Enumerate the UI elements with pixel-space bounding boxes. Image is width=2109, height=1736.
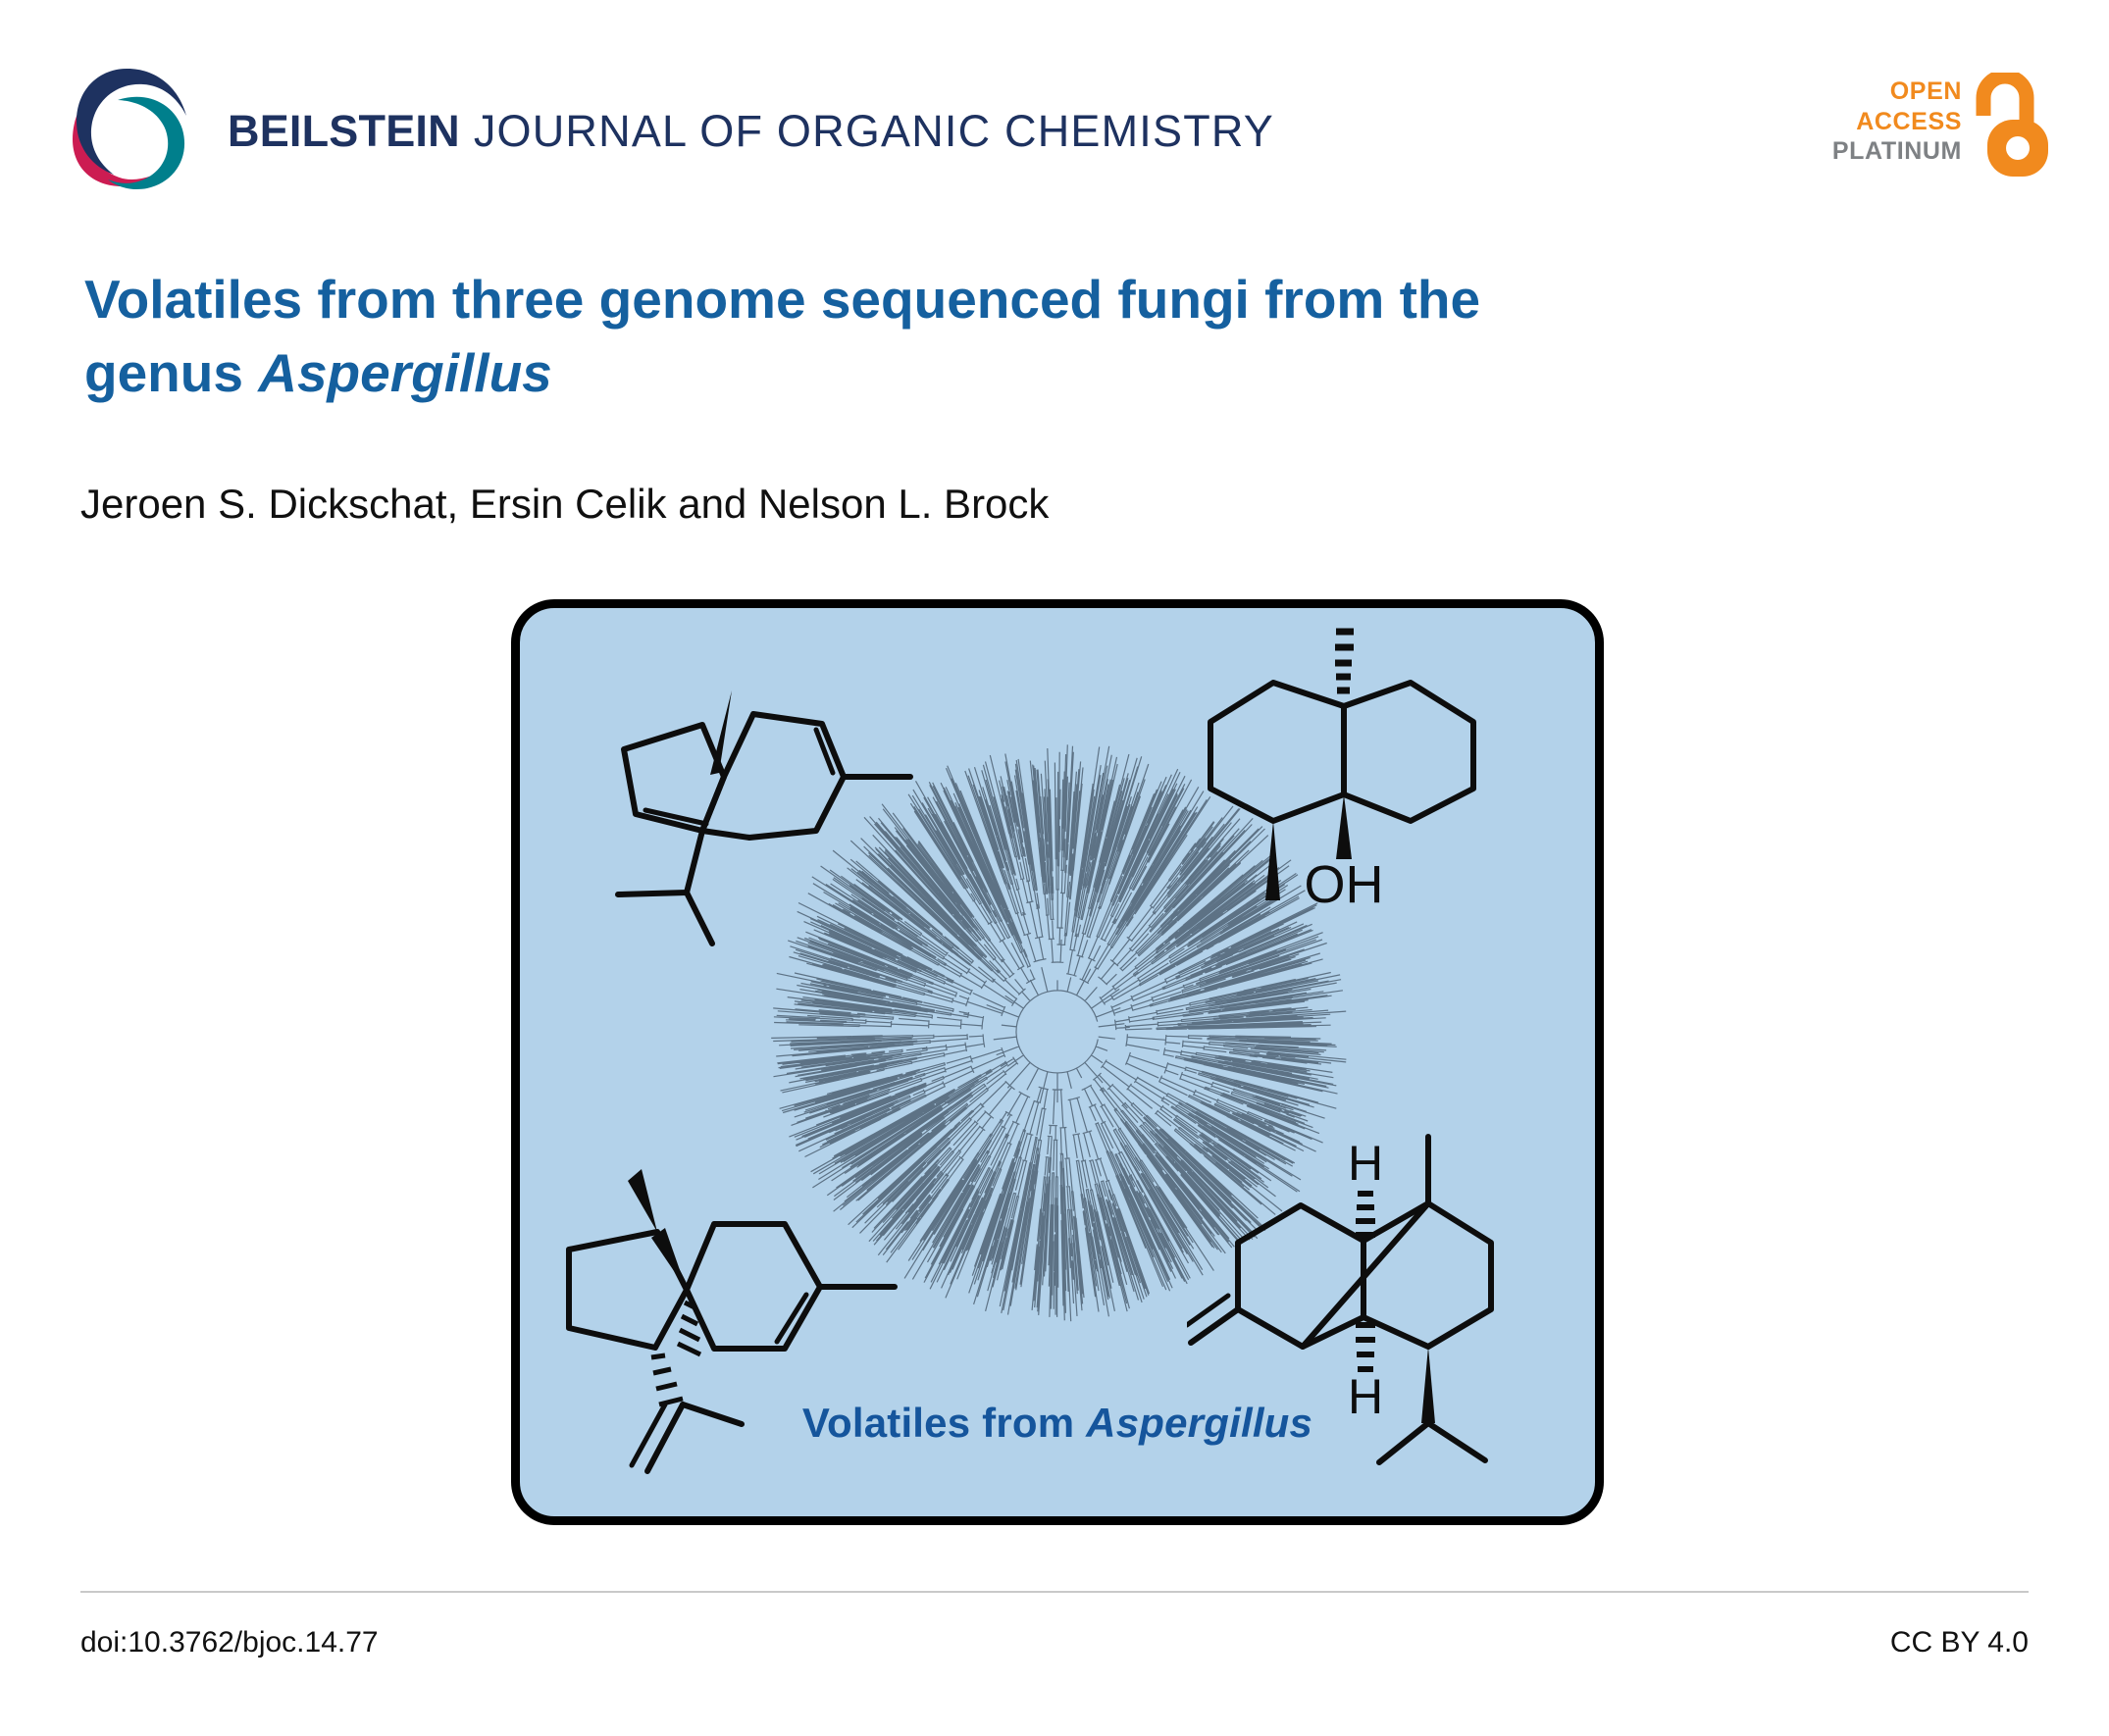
footer-divider [80, 1591, 2029, 1593]
open-access-badge: OPEN ACCESS PLATINUM [1807, 77, 2052, 182]
article-title-line2-italic: Aspergillus [258, 342, 552, 403]
author-list: Jeroen S. Dickschat, Ersin Celik and Nel… [80, 481, 1049, 528]
page-header: BEILSTEINJOURNAL OF ORGANIC CHEMISTRY OP… [0, 0, 2109, 196]
decalin-ol-structure: OH [1197, 620, 1540, 934]
guaiadiene-structure [557, 630, 930, 953]
acoradiene-spiro-structure [540, 1148, 922, 1510]
hydrogen-label-top: H [1348, 1136, 1383, 1191]
graphical-abstract-caption: Volatiles from Aspergillus [520, 1400, 1595, 1447]
caption-plain: Volatiles from [802, 1400, 1086, 1446]
article-title-line2-plain: genus [84, 342, 258, 403]
license-text: CC BY 4.0 [1890, 1626, 2029, 1659]
caption-italic: Aspergillus [1086, 1400, 1312, 1446]
beilstein-logo [61, 61, 190, 190]
journal-title-bold: BEILSTEIN [228, 106, 460, 156]
journal-title: BEILSTEINJOURNAL OF ORGANIC CHEMISTRY [228, 106, 1274, 157]
doi-text[interactable]: doi:10.3762/bjoc.14.77 [80, 1626, 379, 1659]
open-access-line-platinum: PLATINUM [1832, 136, 1962, 167]
open-access-text: OPEN ACCESS PLATINUM [1832, 77, 1962, 167]
cadinene-structure: H H [1187, 1123, 1560, 1506]
article-title-line1: Volatiles from three genome sequenced fu… [84, 269, 1480, 330]
open-access-line-access: ACCESS [1832, 107, 1962, 137]
open-access-line-open: OPEN [1832, 77, 1962, 107]
open-padlock-icon [1970, 73, 2052, 180]
graphical-abstract-panel: OH [511, 599, 1604, 1525]
article-title: Volatiles from three genome sequenced fu… [84, 263, 1850, 410]
hydroxy-label: OH [1305, 855, 1384, 914]
journal-title-light: JOURNAL OF ORGANIC CHEMISTRY [474, 106, 1274, 156]
